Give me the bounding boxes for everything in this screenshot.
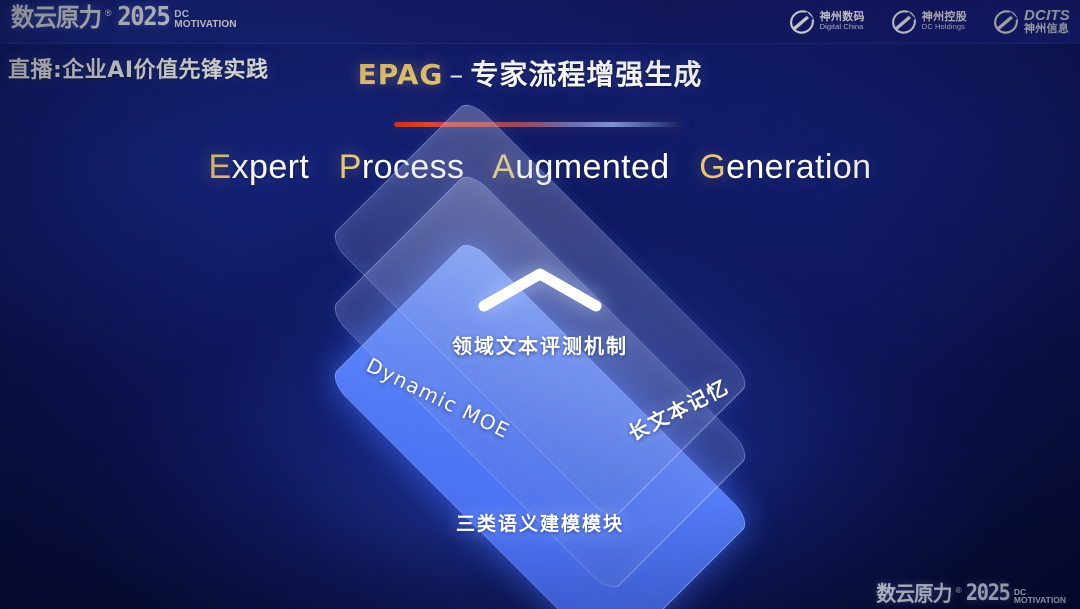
partner-digital-china: 神州数码 Digital China [789,10,865,34]
space-3 [679,148,689,186]
partner-dc-holdings: 神州控股 DC Holdings [891,10,967,34]
footer-brand-name-cn: 数云原力 [876,584,951,605]
partner-name-en: DC Holdings [922,23,967,31]
swoosh-icon [891,10,917,34]
initial-g: G [699,148,726,186]
gradient-divider [394,122,682,127]
title-acronym: EPAG [358,58,444,91]
swoosh-icon [993,10,1019,34]
title-chinese: 专家流程增强生成 [470,58,702,91]
initial-e: E [209,148,232,186]
brand-name-cn: 数云原力 [11,5,101,30]
brand-year: 2025 [117,4,169,30]
partner-text: 神州数码 Digital China [820,12,865,31]
partner-name-en: DCITS [1024,8,1070,24]
partner-logos: 神州数码 Digital China 神州控股 DC Holdings [789,8,1070,35]
footer-brand-watermark: 数云原力 ® 2025 DC MOTIVATION [874,583,1066,605]
footer-registered-mark: ® [956,587,962,595]
layer-label-bottom: 三类语义建模模块 [456,509,624,536]
chevron-up-icon [474,264,606,314]
space-1 [319,148,329,186]
partner-name-en: Digital China [820,23,865,31]
rest-expert: xpert [232,148,310,186]
partner-text: DCITS 神州信息 [1024,8,1070,35]
footer-dc-motivation: DC MOTIVATION [1014,588,1066,605]
initial-p: P [339,148,362,186]
swoosh-icon [789,10,815,34]
architecture-diagram: 领域文本评测机制 Dynamic MOE 长文本记忆 三类语义建模模块 [305,228,775,558]
registered-mark: ® [105,9,112,18]
slide-canvas: 数云原力 ® 2025 DC MOTIVATION 神州数码 Digital C… [0,0,1080,609]
footer-motivation: MOTIVATION [1014,596,1066,604]
subtitle-word-generation: Generation [699,148,871,186]
rest-generation: eneration [726,148,871,186]
footer-brand-year: 2025 [965,583,1009,605]
brand-dc-motivation: DC MOTIVATION [174,10,236,30]
partner-dcits: DCITS 神州信息 [993,8,1070,35]
header-bar: 数云原力 ® 2025 DC MOTIVATION 神州数码 Digital C… [0,0,1080,44]
layer-label-top: 领域文本评测机制 [452,330,628,359]
brand-motivation: MOTIVATION [174,20,236,30]
partner-name-cn: 神州信息 [1024,24,1070,36]
subtitle-word-expert: Expert [209,148,310,186]
brand-logo: 数云原力 ® 2025 DC MOTIVATION [8,4,237,30]
partner-text: 神州控股 DC Holdings [922,12,967,31]
page-title: EPAG–专家流程增强生成 [0,53,1070,93]
title-dash: – [443,58,470,91]
